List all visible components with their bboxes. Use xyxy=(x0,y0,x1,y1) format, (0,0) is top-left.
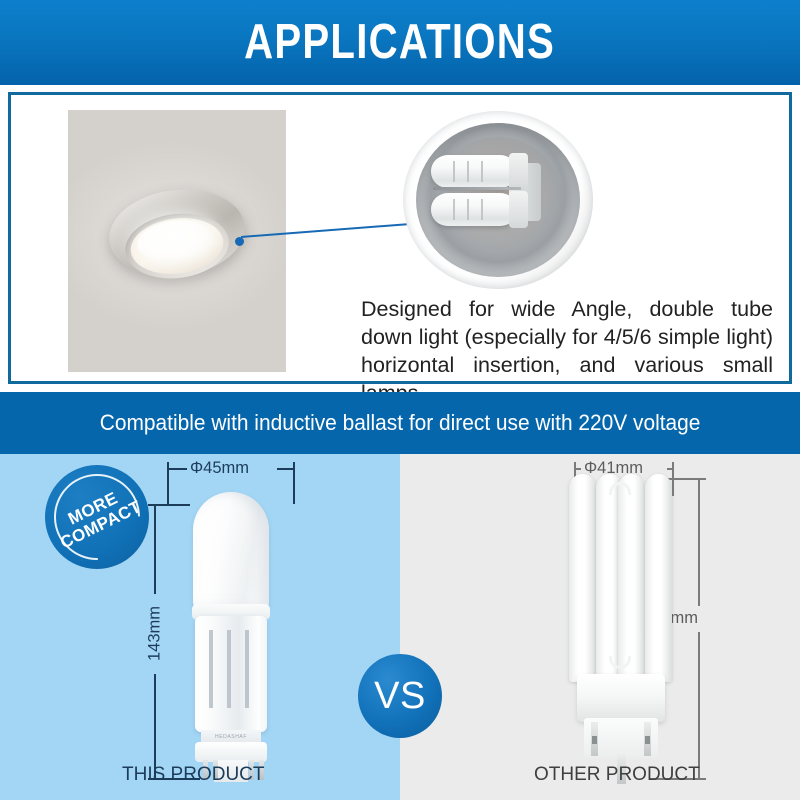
comparison-section: MORE COMPACT Φ45mm 143mm xyxy=(0,454,800,800)
other-product-panel: Φ41mm 164mm OTHE xyxy=(400,454,800,800)
cfl-tube-icon xyxy=(618,474,645,682)
header-bar: APPLICATIONS xyxy=(0,0,800,85)
cfl-pin-icon xyxy=(591,722,598,756)
reflector-tube-divider-icon xyxy=(433,187,521,190)
other-product-caption: OTHER PRODUCT xyxy=(534,764,700,786)
lamp-body-icon xyxy=(195,616,267,732)
lamp-collar-icon xyxy=(195,742,267,762)
width-ext-left xyxy=(167,468,169,504)
reflector-tube-icon xyxy=(431,193,517,226)
left-diameter-label: Φ45mm xyxy=(190,459,249,478)
this-product-panel: MORE COMPACT Φ45mm 143mm xyxy=(0,454,400,800)
lamp-dome-icon xyxy=(193,492,269,610)
downlight-photo xyxy=(68,110,286,372)
page-title: APPLICATIONS xyxy=(245,18,556,67)
reflector-tube-icon xyxy=(431,155,517,188)
compatibility-banner-text: Compatible with inductive ballast for di… xyxy=(100,410,701,436)
cfl-tube-icon xyxy=(569,474,596,682)
vs-label: VS xyxy=(374,675,426,718)
more-compact-badge: MORE COMPACT xyxy=(45,465,149,569)
vs-badge: VS xyxy=(358,654,442,738)
cfl-tube-icon xyxy=(645,474,672,682)
led-lamp-illustration: HEDASHAF xyxy=(183,492,279,782)
product-infographic: APPLICATIONS xyxy=(0,0,800,800)
reflector-illustration xyxy=(403,111,593,289)
application-description: Designed for wide Angle, double tube dow… xyxy=(361,295,773,408)
cfl-lamp-illustration xyxy=(565,474,677,784)
badge-text: MORE COMPACT xyxy=(27,447,166,586)
this-product-caption: THIS PRODUCT xyxy=(122,764,265,786)
compatibility-banner: Compatible with inductive ballast for di… xyxy=(0,392,800,454)
applications-panel: Designed for wide Angle, double tube dow… xyxy=(8,92,792,384)
left-height-label: 143mm xyxy=(146,603,165,665)
width-ext-right xyxy=(293,468,295,504)
cfl-pin-icon xyxy=(644,722,651,756)
callout-dot-icon xyxy=(235,237,244,246)
cfl-base-icon xyxy=(577,674,665,722)
